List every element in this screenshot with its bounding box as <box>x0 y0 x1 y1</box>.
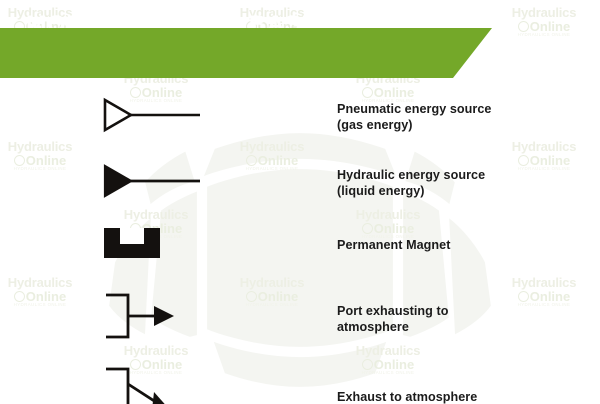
bracket-with-right-arrow-icon <box>96 288 276 344</box>
header-banner <box>0 28 492 78</box>
legend-item-label: Hydraulic energy source (liquid energy) <box>337 168 587 199</box>
symbol-cell <box>96 362 276 404</box>
symbol-cell <box>96 92 276 148</box>
legend-item-subtitle: atmosphere <box>337 320 587 336</box>
legend-item-label: Permanent Magnet <box>337 238 587 254</box>
legend-item-label: Pneumatic energy source (gas energy) <box>337 102 587 133</box>
bracket-with-diagonal-arrow-icon <box>96 362 276 404</box>
legend-item-title: Port exhausting to <box>337 304 448 318</box>
legend-item-title: Pneumatic energy source <box>337 102 491 116</box>
symbol-cell <box>96 222 276 278</box>
symbol-cell <box>96 288 276 344</box>
legend-item-label: Port exhausting to atmosphere <box>337 304 587 335</box>
legend-item-title: Hydraulic energy source <box>337 168 485 182</box>
symbol-legend-page: Hydraulics Online HYDRAULICS ONLINE Hydr… <box>0 0 600 404</box>
symbol-cell <box>96 158 276 214</box>
legend-item-subtitle: (gas energy) <box>337 118 587 134</box>
legend-item-subtitle: (liquid energy) <box>337 184 587 200</box>
hollow-triangle-with-line-icon <box>96 92 276 148</box>
legend-item-title: Permanent Magnet <box>337 238 450 252</box>
u-shaped-block-magnet-icon <box>96 222 276 278</box>
legend-item-title: Exhaust to atmosphere <box>337 390 477 404</box>
filled-triangle-with-line-icon <box>96 158 276 214</box>
legend-item-label: Exhaust to atmosphere <box>337 390 587 404</box>
